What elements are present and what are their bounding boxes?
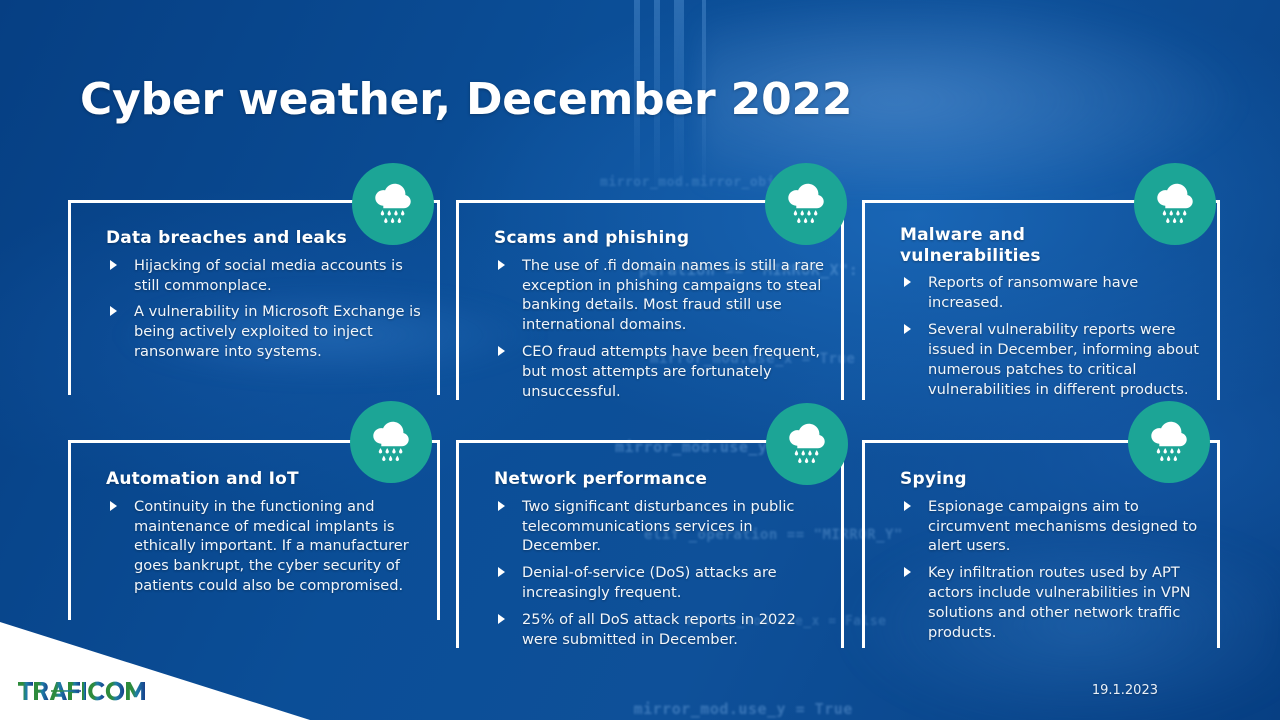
bullet-arrow-icon [498, 614, 505, 624]
card-bullet-list: The use of .fi domain names is still a r… [494, 256, 828, 402]
bullet-arrow-icon [904, 324, 911, 334]
rain-cloud-icon-card-4 [350, 401, 432, 483]
bullet-text: Two significant disturbances in public t… [522, 498, 794, 555]
bullet-item: Several vulnerability reports were issue… [900, 320, 1204, 399]
bullet-arrow-icon [110, 501, 117, 511]
bullet-arrow-icon [498, 567, 505, 577]
rain-cloud-icon-card-1 [352, 163, 434, 245]
rain-cloud-icon-card-3 [1134, 163, 1216, 245]
bullet-arrow-icon [498, 346, 505, 356]
bullet-arrow-icon [110, 306, 117, 316]
card-bullet-list: Continuity in the functioning and mainte… [106, 497, 424, 596]
bullet-text: Reports of ransomware have increased. [928, 274, 1138, 311]
bullet-item: Reports of ransomware have increased. [900, 273, 1204, 313]
bullet-text: Several vulnerability reports were issue… [928, 321, 1199, 398]
rain-cloud-icon-card-2 [765, 163, 847, 245]
bullet-text: Denial-of-service (DoS) attacks are incr… [522, 564, 777, 601]
bullet-item: 25% of all DoS attack reports in 2022 we… [494, 610, 828, 650]
corner-white-wedge [0, 612, 310, 720]
bullet-text: Espionage campaigns aim to circumvent me… [928, 498, 1197, 555]
rain-cloud-icon-card-6 [1128, 401, 1210, 483]
bullet-arrow-icon [904, 567, 911, 577]
slide-title: Cyber weather, December 2022 [80, 74, 852, 125]
bullet-text: 25% of all DoS attack reports in 2022 we… [522, 611, 796, 648]
bullet-item: The use of .fi domain names is still a r… [494, 256, 828, 335]
bullet-item: Denial-of-service (DoS) attacks are incr… [494, 563, 828, 603]
bullet-item: Key infiltration routes used by APT acto… [900, 563, 1204, 642]
card-heading: Malware and vulnerabilities [900, 225, 1110, 266]
slide-date: 19.1.2023 [1092, 683, 1158, 698]
card-bullet-list: Espionage campaigns aim to circumvent me… [900, 497, 1204, 643]
bullet-text: Hijacking of social media accounts is st… [134, 257, 403, 294]
card-bullet-list: Two significant disturbances in public t… [494, 497, 828, 650]
card-bullet-list: Hijacking of social media accounts is st… [106, 256, 424, 362]
bullet-text: CEO fraud attempts have been frequent, b… [522, 343, 820, 400]
bullet-text: The use of .fi domain names is still a r… [522, 257, 824, 334]
bullet-arrow-icon [904, 501, 911, 511]
bullet-text: Continuity in the functioning and mainte… [134, 498, 409, 594]
bullet-item: Continuity in the functioning and mainte… [106, 497, 424, 596]
bullet-item: A vulnerability in Microsoft Exchange is… [106, 302, 424, 362]
bullet-item: CEO fraud attempts have been frequent, b… [494, 342, 828, 402]
bullet-item: Two significant disturbances in public t… [494, 497, 828, 557]
bullet-text: A vulnerability in Microsoft Exchange is… [134, 303, 421, 360]
bullet-text: Key infiltration routes used by APT acto… [928, 564, 1191, 641]
bullet-arrow-icon [904, 277, 911, 287]
traficom-logo [18, 679, 146, 703]
bullet-arrow-icon [498, 501, 505, 511]
bullet-arrow-icon [110, 260, 117, 270]
rain-cloud-icon-card-5 [766, 403, 848, 485]
bullet-arrow-icon [498, 260, 505, 270]
bullet-item: Espionage campaigns aim to circumvent me… [900, 497, 1204, 557]
card-bullet-list: Reports of ransomware have increased. Se… [900, 273, 1204, 399]
bullet-item: Hijacking of social media accounts is st… [106, 256, 424, 296]
